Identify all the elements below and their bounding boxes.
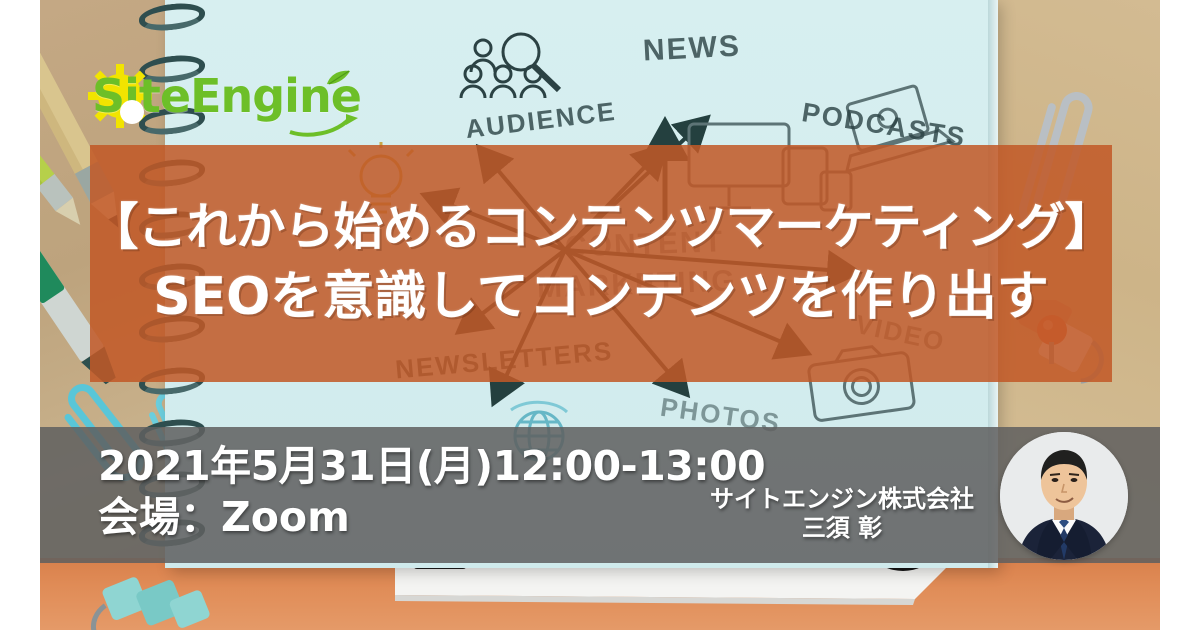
title-line-2: SEOを意識してコンテンツを作り出す xyxy=(153,267,1049,328)
speaker-portrait xyxy=(1000,432,1128,560)
speaker-name: 三須 彰 xyxy=(710,514,974,543)
event-venue: 会場：Zoom xyxy=(98,494,765,541)
binder-clip-teal xyxy=(82,562,252,630)
title-band: 【これから始めるコンテンツマーケティング】 SEOを意識してコンテンツを作り出す xyxy=(90,145,1112,382)
info-band: 2021年5月31日(月)12:00-13:00 会場：Zoom サイトエンジン… xyxy=(40,427,1160,563)
logo-dot xyxy=(120,100,144,124)
leaf-icon xyxy=(325,70,351,86)
speaker-company: サイトエンジン株式会社 xyxy=(710,485,974,514)
siteengine-logo[interactable]: SiteEngine xyxy=(92,68,361,124)
event-details: 2021年5月31日(月)12:00-13:00 会場：Zoom xyxy=(98,443,765,541)
webinar-banner: AUDIENCE NEWS PODCASTS CONTENT MARKETING… xyxy=(0,0,1200,630)
speaker-info: サイトエンジン株式会社 三須 彰 xyxy=(710,485,974,544)
title-line-1: 【これから始めるコンテンツマーケティング】 xyxy=(89,198,1114,257)
swoosh-icon xyxy=(288,112,358,138)
avatar xyxy=(1000,432,1128,560)
sketch-word-1: NEWS xyxy=(642,29,742,68)
audience-sketch-icon xyxy=(459,26,579,106)
event-datetime: 2021年5月31日(月)12:00-13:00 xyxy=(98,443,765,490)
